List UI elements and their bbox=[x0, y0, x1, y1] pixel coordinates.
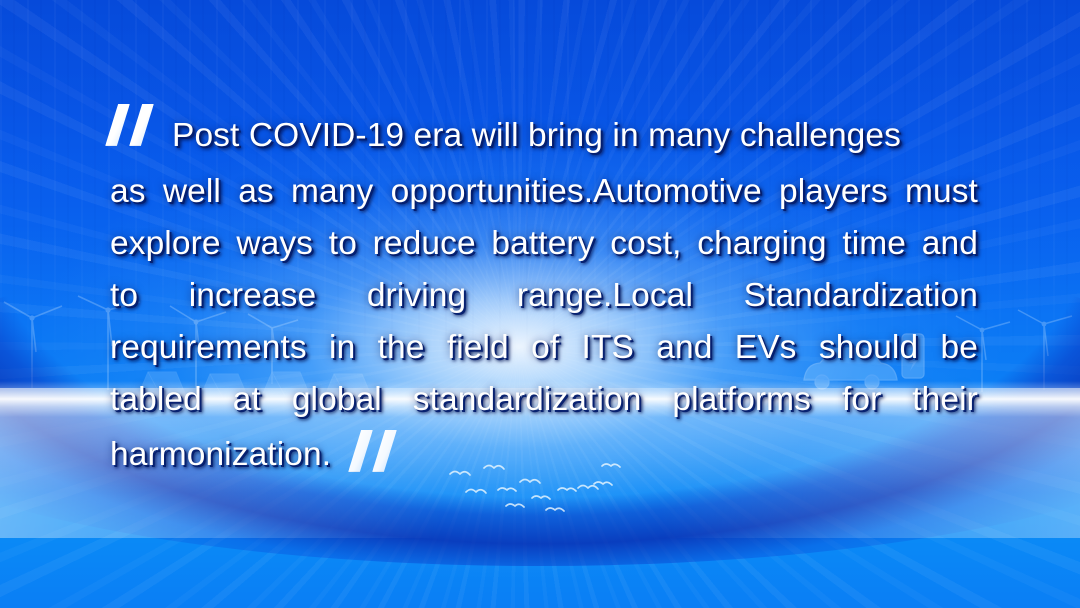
word: EVs bbox=[735, 322, 797, 374]
word: explore bbox=[110, 218, 221, 270]
word: of bbox=[531, 322, 559, 374]
word: standardization bbox=[413, 374, 642, 426]
quote-line-1-text: Post COVID-19 era will bring in many cha… bbox=[172, 117, 901, 154]
word: opportunities.Automotive bbox=[391, 166, 762, 218]
word: global bbox=[292, 374, 382, 426]
word: Standardization bbox=[744, 270, 978, 322]
word: reduce bbox=[373, 218, 476, 270]
word: driving bbox=[367, 270, 466, 322]
word: ways bbox=[236, 218, 313, 270]
word: for bbox=[842, 374, 881, 426]
open-quote-icon bbox=[110, 104, 158, 162]
word: increase bbox=[189, 270, 316, 322]
quote-line-3: explore ways to reduce battery cost, cha… bbox=[110, 218, 978, 270]
quote-line-1: Post COVID-19 era will bring in many cha… bbox=[110, 108, 978, 166]
word: platforms bbox=[672, 374, 811, 426]
word: and bbox=[922, 218, 978, 270]
word: cost, bbox=[610, 218, 681, 270]
word: field bbox=[447, 322, 509, 374]
word: their bbox=[912, 374, 978, 426]
close-quote-icon bbox=[353, 430, 401, 488]
word: many bbox=[291, 166, 373, 218]
word: and bbox=[656, 322, 712, 374]
word: in bbox=[329, 322, 355, 374]
word: to bbox=[329, 218, 357, 270]
quote-line-4: to increase driving range.Local Standard… bbox=[110, 270, 978, 322]
quote-line-6: tabled at global standardization platfor… bbox=[110, 374, 978, 426]
word: the bbox=[378, 322, 425, 374]
word: at bbox=[233, 374, 261, 426]
quote-line-7-text: harmonization. bbox=[110, 429, 331, 481]
word: to bbox=[110, 270, 138, 322]
quote-line-2: as well as many opportunities.Automotive… bbox=[110, 166, 978, 218]
quote-slide: Post COVID-19 era will bring in many cha… bbox=[0, 0, 1080, 608]
word: charging bbox=[697, 218, 826, 270]
word: time bbox=[842, 218, 906, 270]
word: as bbox=[110, 166, 146, 218]
word: battery bbox=[491, 218, 594, 270]
word: requirements bbox=[110, 322, 307, 374]
word: must bbox=[905, 166, 978, 218]
quote-line-5: requirements in the field of ITS and EVs… bbox=[110, 322, 978, 374]
quote-line-7: harmonization. bbox=[110, 426, 978, 484]
word: tabled bbox=[110, 374, 202, 426]
quote-block: Post COVID-19 era will bring in many cha… bbox=[110, 108, 978, 484]
word: range.Local bbox=[517, 270, 693, 322]
word: should bbox=[819, 322, 918, 374]
word: be bbox=[941, 322, 978, 374]
word: well bbox=[163, 166, 221, 218]
word: players bbox=[779, 166, 888, 218]
word: as bbox=[238, 166, 274, 218]
word: ITS bbox=[582, 322, 634, 374]
